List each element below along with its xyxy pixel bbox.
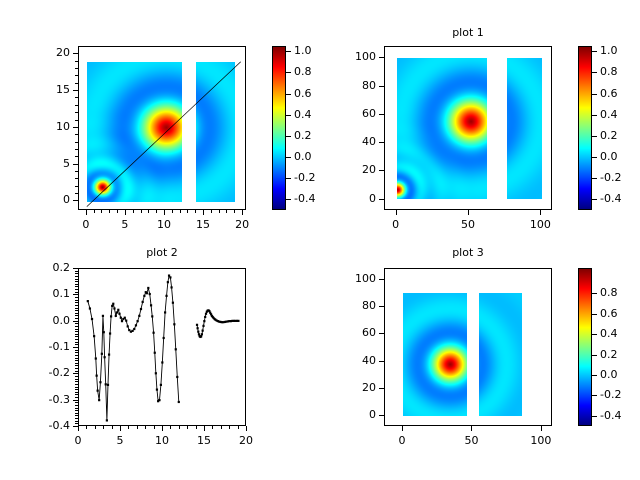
y-tick-label: -0.1 (26, 340, 70, 353)
y-tick-mark (379, 415, 384, 416)
y-minor-tick (75, 415, 78, 416)
colorbar (272, 46, 286, 210)
y-minor-tick (75, 339, 78, 340)
colorbar-gradient (579, 47, 591, 209)
x-minor-tick (94, 210, 95, 213)
y-minor-tick (75, 310, 78, 311)
x-minor-tick (86, 426, 87, 429)
x-minor-tick (112, 426, 113, 429)
series-marker (102, 315, 104, 317)
series-marker (103, 331, 105, 333)
colorbar-tick-label: -0.2 (600, 388, 621, 401)
heatmap-panel (403, 293, 467, 416)
y-tick-label: 0.2 (26, 261, 70, 274)
series-marker (109, 332, 111, 334)
colorbar-tick-label: -0.4 (294, 192, 315, 205)
x-tick-label: 10 (142, 434, 182, 447)
colorbar-tick-mark (592, 199, 597, 200)
heatmap-image (397, 58, 487, 199)
colorbar-gradient (579, 269, 591, 425)
series-marker (202, 330, 204, 332)
series-marker (172, 302, 174, 304)
y-tick-label: 60 (332, 107, 376, 120)
series-marker (204, 316, 206, 318)
heatmap-image (507, 58, 542, 199)
y-minor-tick (75, 350, 78, 351)
x-minor-tick (156, 210, 157, 213)
y-minor-tick (75, 276, 78, 277)
y-tick-label: 10 (26, 120, 70, 133)
y-minor-tick (75, 120, 78, 121)
series-marker (125, 320, 127, 322)
y-minor-tick (75, 397, 78, 398)
y-tick-mark (73, 294, 78, 295)
colorbar-tick-mark (592, 395, 597, 396)
x-tick-label: 0 (382, 434, 422, 447)
x-minor-tick (172, 210, 173, 213)
y-tick-mark (379, 333, 384, 334)
x-tick-label: 50 (451, 434, 491, 447)
y-tick-label: 100 (332, 50, 376, 63)
y-tick-mark (379, 86, 384, 87)
x-tick-mark (246, 426, 247, 431)
x-tick-mark (396, 210, 397, 215)
colorbar-tick-label: 0.4 (294, 108, 312, 121)
y-minor-tick (75, 313, 78, 314)
x-minor-tick (180, 210, 181, 213)
x-minor-tick (229, 426, 230, 429)
series-marker (89, 307, 91, 309)
y-minor-tick (75, 318, 78, 319)
y-tick-label: 80 (332, 79, 376, 92)
x-tick-mark (125, 210, 126, 215)
y-minor-tick (75, 300, 78, 301)
series-marker (169, 276, 171, 278)
series-marker (142, 301, 144, 303)
series-marker (173, 323, 175, 325)
series-marker (116, 311, 118, 313)
y-minor-tick (75, 418, 78, 419)
series-marker (91, 318, 93, 320)
series-marker (95, 357, 97, 359)
y-minor-tick (75, 323, 78, 324)
y-minor-tick (75, 389, 78, 390)
colorbar-tick-label: -0.2 (600, 171, 621, 184)
y-minor-tick (75, 97, 78, 98)
y-minor-tick (75, 305, 78, 306)
y-tick-label: 0 (332, 408, 376, 421)
series-marker (156, 389, 158, 391)
series-marker (98, 399, 100, 401)
x-tick-mark (162, 426, 163, 431)
y-minor-tick (75, 408, 78, 409)
colorbar-tick-mark (592, 293, 597, 294)
series-marker (93, 335, 95, 337)
colorbar-tick-mark (592, 314, 597, 315)
y-tick-mark (379, 57, 384, 58)
colorbar-tick-mark (592, 355, 597, 356)
colorbar-gradient (273, 47, 285, 209)
series-marker (152, 332, 154, 334)
y-tick-mark (73, 164, 78, 165)
y-minor-tick (75, 368, 78, 369)
x-minor-tick (133, 210, 134, 213)
series-marker (202, 325, 204, 327)
y-minor-tick (75, 186, 78, 187)
y-minor-tick (75, 134, 78, 135)
series-marker (165, 295, 167, 297)
x-minor-tick (117, 210, 118, 213)
heatmap-panel (397, 58, 487, 199)
colorbar-tick-label: 0.0 (600, 150, 618, 163)
colorbar-tick-mark (592, 72, 597, 73)
y-minor-tick (75, 413, 78, 414)
series-marker (200, 335, 202, 337)
y-minor-tick (75, 289, 78, 290)
x-minor-tick (195, 210, 196, 213)
heatmap-image (403, 293, 467, 416)
x-minor-tick (238, 426, 239, 429)
series-marker (97, 390, 99, 392)
y-minor-tick (75, 75, 78, 76)
y-minor-tick (75, 379, 78, 380)
x-minor-tick (101, 210, 102, 213)
colorbar-tick-mark (592, 136, 597, 137)
y-minor-tick (75, 292, 78, 293)
series-marker (197, 331, 199, 333)
series-marker (113, 307, 115, 309)
axes-frame (78, 268, 246, 426)
y-tick-label: 100 (332, 272, 376, 285)
axes-frame (384, 46, 552, 210)
x-tick-mark (78, 426, 79, 431)
series-marker (151, 315, 153, 317)
series-marker (101, 353, 103, 355)
colorbar-tick-mark (592, 157, 597, 158)
x-minor-tick (221, 426, 222, 429)
colorbar-tick-label: -0.2 (294, 171, 315, 184)
x-tick-mark (164, 210, 165, 215)
colorbar-tick-mark (592, 334, 597, 335)
y-minor-tick (75, 402, 78, 403)
colorbar-tick-mark (286, 178, 291, 179)
x-tick-label: 0 (376, 218, 416, 231)
y-tick-mark (73, 347, 78, 348)
series-marker (196, 324, 198, 326)
y-tick-label: 0.1 (26, 287, 70, 300)
y-minor-tick (75, 384, 78, 385)
colorbar-tick-mark (286, 72, 291, 73)
series-marker (110, 315, 112, 317)
y-minor-tick (75, 193, 78, 194)
x-minor-tick (95, 426, 96, 429)
colorbar-tick-label: 1.0 (294, 44, 312, 57)
y-minor-tick (75, 326, 78, 327)
y-tick-mark (73, 53, 78, 54)
y-tick-label: 0.0 (26, 314, 70, 327)
y-tick-label: -0.3 (26, 393, 70, 406)
y-minor-tick (75, 142, 78, 143)
series-marker (160, 384, 162, 386)
y-minor-tick (75, 149, 78, 150)
colorbar-tick-label: 0.8 (294, 65, 312, 78)
colorbar-tick-mark (592, 416, 597, 417)
series-marker (203, 320, 205, 322)
series-marker (154, 352, 156, 354)
series-marker (121, 320, 123, 322)
series-marker (164, 311, 166, 313)
y-tick-mark (379, 199, 384, 200)
x-tick-mark (242, 210, 243, 215)
x-minor-tick (141, 210, 142, 213)
series-marker (120, 317, 122, 319)
x-tick-label: 5 (100, 434, 140, 447)
series-marker (96, 375, 98, 377)
y-minor-tick (75, 365, 78, 366)
series-marker (178, 401, 180, 403)
colorbar-tick-mark (592, 375, 597, 376)
x-minor-tick (187, 210, 188, 213)
x-tick-label: 10 (144, 218, 184, 231)
x-tick-label: 5 (105, 218, 145, 231)
series-marker (135, 324, 137, 326)
series-marker (155, 372, 157, 374)
y-minor-tick (75, 156, 78, 157)
y-tick-mark (379, 279, 384, 280)
series-marker (117, 309, 119, 311)
x-tick-label: 0 (66, 218, 106, 231)
x-tick-mark (471, 426, 472, 431)
plot-title: plot 1 (384, 26, 552, 39)
y-minor-tick (75, 392, 78, 393)
series-marker (104, 356, 106, 358)
y-tick-mark (379, 388, 384, 389)
line-series-group (79, 269, 246, 426)
x-minor-tick (109, 210, 110, 213)
y-tick-mark (379, 170, 384, 171)
y-tick-mark (379, 142, 384, 143)
figure-canvas: 05101520051015201.00.80.60.40.20.0-0.2-0… (0, 0, 640, 480)
y-tick-label: 40 (332, 135, 376, 148)
y-minor-tick (75, 61, 78, 62)
series-marker (167, 281, 169, 283)
y-tick-mark (73, 127, 78, 128)
x-tick-label: 100 (520, 218, 560, 231)
x-minor-tick (219, 210, 220, 213)
colorbar-tick-label: 0.2 (294, 129, 312, 142)
series-marker (143, 295, 145, 297)
colorbar-tick-mark (286, 136, 291, 137)
x-tick-mark (86, 210, 87, 215)
heatmap-image (87, 62, 182, 202)
y-minor-tick (75, 281, 78, 282)
series-marker (149, 293, 151, 295)
y-minor-tick (75, 358, 78, 359)
y-minor-tick (75, 178, 78, 179)
colorbar-tick-mark (286, 51, 291, 52)
colorbar-tick-mark (592, 51, 597, 52)
y-tick-label: 40 (332, 354, 376, 367)
colorbar-tick-mark (286, 157, 291, 158)
x-minor-tick (234, 210, 235, 213)
y-tick-label: 20 (26, 46, 70, 59)
x-tick-label: 15 (184, 434, 224, 447)
colorbar-tick-label: 0.2 (600, 348, 618, 361)
x-tick-mark (203, 210, 204, 215)
series-marker (170, 286, 172, 288)
heatmap-panel (87, 62, 182, 202)
colorbar-tick-label: 0.6 (294, 87, 312, 100)
y-tick-label: 20 (332, 163, 376, 176)
series-marker (105, 383, 107, 385)
x-minor-tick (145, 426, 146, 429)
y-minor-tick (75, 371, 78, 372)
series-marker (133, 328, 135, 330)
y-tick-mark (73, 321, 78, 322)
series-marker (106, 419, 108, 421)
series-line (197, 310, 238, 337)
colorbar-tick-label: 0.0 (294, 150, 312, 163)
series-marker (197, 327, 199, 329)
series-marker (161, 361, 163, 363)
x-minor-tick (187, 426, 188, 429)
y-tick-mark (73, 400, 78, 401)
y-minor-tick (75, 83, 78, 84)
y-minor-tick (75, 105, 78, 106)
y-minor-tick (75, 336, 78, 337)
series-marker (127, 325, 129, 327)
y-tick-mark (73, 373, 78, 374)
series-marker (140, 308, 142, 310)
colorbar-tick-mark (592, 178, 597, 179)
y-tick-mark (73, 90, 78, 91)
y-tick-label: 15 (26, 83, 70, 96)
x-minor-tick (128, 426, 129, 429)
plot-title: plot 3 (384, 246, 552, 259)
x-tick-mark (120, 426, 121, 431)
colorbar-tick-mark (592, 94, 597, 95)
colorbar-tick-label: 1.0 (600, 44, 618, 57)
colorbar-tick-label: 0.4 (600, 327, 618, 340)
plot-title: plot 2 (78, 246, 246, 259)
y-minor-tick (75, 273, 78, 274)
colorbar-tick-label: 0.8 (600, 286, 618, 299)
x-minor-tick (103, 426, 104, 429)
x-tick-label: 100 (521, 434, 561, 447)
series-marker (150, 304, 152, 306)
heatmap-panel (479, 293, 522, 416)
y-tick-label: -0.2 (26, 366, 70, 379)
y-tick-mark (73, 200, 78, 201)
x-tick-mark (468, 210, 469, 215)
x-minor-tick (226, 210, 227, 213)
y-minor-tick (75, 334, 78, 335)
colorbar-tick-label: 0.0 (600, 368, 618, 381)
y-tick-label: 60 (332, 326, 376, 339)
series-marker (201, 333, 203, 335)
y-minor-tick (75, 355, 78, 356)
y-minor-tick (75, 284, 78, 285)
series-marker (107, 384, 109, 386)
y-minor-tick (75, 360, 78, 361)
y-minor-tick (75, 112, 78, 113)
y-minor-tick (75, 171, 78, 172)
y-minor-tick (75, 279, 78, 280)
heatmap-image (196, 62, 235, 202)
heatmap-image (479, 293, 522, 416)
y-minor-tick (75, 344, 78, 345)
colorbar-tick-label: -0.4 (600, 409, 621, 422)
y-minor-tick (75, 297, 78, 298)
series-marker (111, 305, 113, 307)
series-marker (158, 399, 160, 401)
series-marker (124, 317, 126, 319)
y-tick-mark (73, 426, 78, 427)
y-tick-mark (379, 114, 384, 115)
x-tick-mark (540, 210, 541, 215)
x-tick-mark (541, 426, 542, 431)
y-tick-label: 0 (332, 192, 376, 205)
series-marker (147, 287, 149, 289)
x-minor-tick (154, 426, 155, 429)
y-tick-mark (73, 268, 78, 269)
x-minor-tick (170, 426, 171, 429)
series-line (88, 276, 179, 421)
y-minor-tick (75, 394, 78, 395)
series-marker (87, 300, 89, 302)
y-tick-label: -0.4 (26, 419, 70, 432)
heatmap-panel (196, 62, 235, 202)
series-marker (175, 348, 177, 350)
x-minor-tick (179, 426, 180, 429)
x-minor-tick (196, 426, 197, 429)
y-minor-tick (75, 308, 78, 309)
y-tick-label: 20 (332, 381, 376, 394)
series-marker (163, 337, 165, 339)
colorbar-tick-label: 0.4 (600, 108, 618, 121)
y-minor-tick (75, 405, 78, 406)
x-tick-label: 15 (183, 218, 223, 231)
y-minor-tick (75, 315, 78, 316)
y-tick-label: 0 (26, 193, 70, 206)
y-minor-tick (75, 286, 78, 287)
colorbar-tick-label: 0.8 (600, 65, 618, 78)
x-tick-label: 20 (222, 218, 262, 231)
heatmap-panel (507, 58, 542, 199)
x-minor-tick (211, 210, 212, 213)
colorbar-tick-label: 0.6 (600, 87, 618, 100)
series-marker (99, 381, 101, 383)
y-minor-tick (75, 271, 78, 272)
axes-frame (78, 46, 246, 210)
y-minor-tick (75, 381, 78, 382)
y-tick-label: 5 (26, 157, 70, 170)
y-minor-tick (75, 363, 78, 364)
series-marker (108, 353, 110, 355)
x-minor-tick (212, 426, 213, 429)
colorbar (578, 46, 592, 210)
colorbar-tick-mark (286, 199, 291, 200)
y-minor-tick (75, 352, 78, 353)
y-minor-tick (75, 376, 78, 377)
y-minor-tick (75, 342, 78, 343)
y-minor-tick (75, 331, 78, 332)
y-minor-tick (75, 68, 78, 69)
y-tick-mark (379, 361, 384, 362)
x-tick-label: 0 (58, 434, 98, 447)
y-minor-tick (75, 421, 78, 422)
y-tick-mark (379, 306, 384, 307)
